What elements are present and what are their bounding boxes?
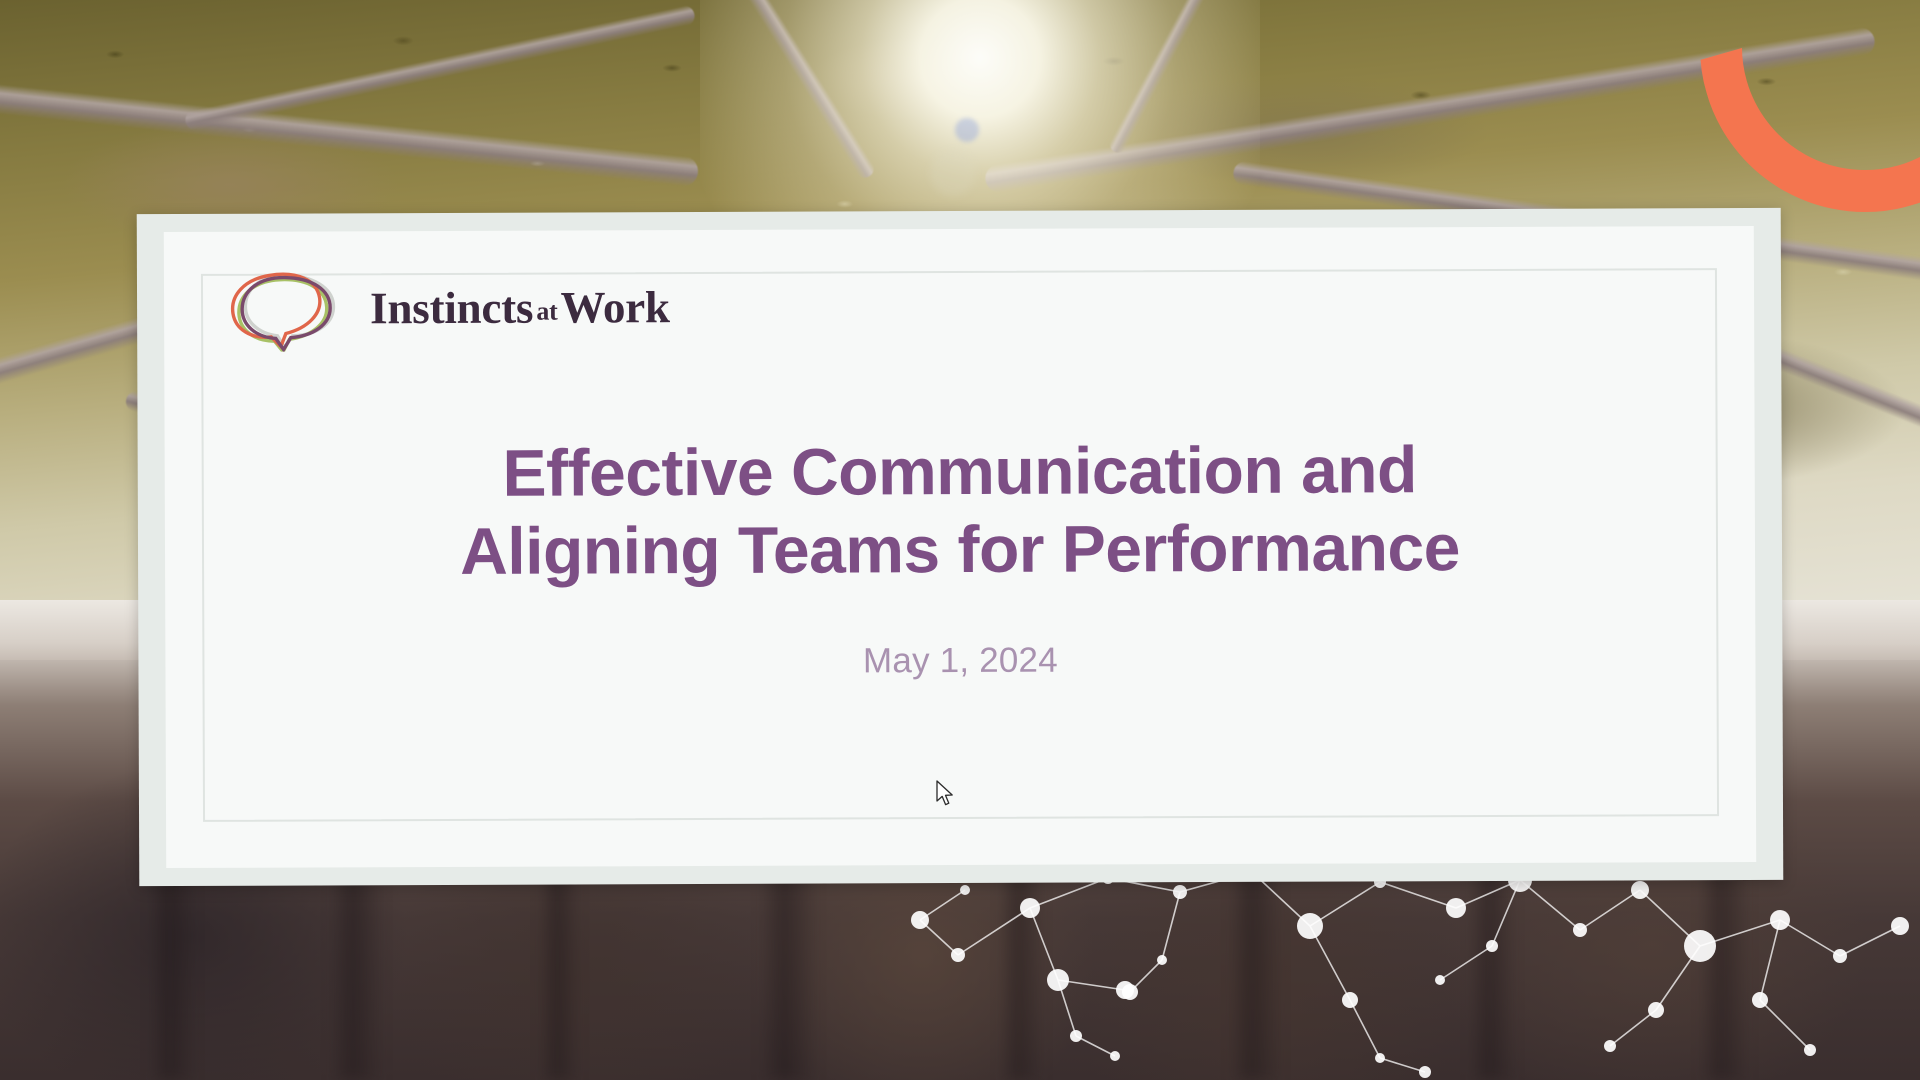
- page-title: Effective Communication andAligning Team…: [165, 430, 1756, 592]
- title-line-1: Effective Communication and: [502, 432, 1417, 510]
- wordmark-at: at: [533, 296, 560, 325]
- title-block: Effective Communication andAligning Team…: [165, 430, 1756, 684]
- brand-logo: InstinctsatWork: [228, 264, 670, 352]
- slide-date: May 1, 2024: [165, 638, 1755, 684]
- title-line-2: Aligning Teams for Performance: [460, 510, 1460, 588]
- brand-wordmark: InstinctsatWork: [370, 285, 670, 331]
- slide-card: InstinctsatWork Effective Communication …: [137, 208, 1784, 886]
- wordmark-instincts: Instincts: [370, 282, 533, 333]
- slide-card-inner: InstinctsatWork Effective Communication …: [164, 226, 1756, 868]
- speech-bubble-logo-icon: [228, 265, 348, 351]
- presentation-slide: InstinctsatWork Effective Communication …: [0, 0, 1920, 1080]
- wordmark-work: Work: [560, 282, 669, 332]
